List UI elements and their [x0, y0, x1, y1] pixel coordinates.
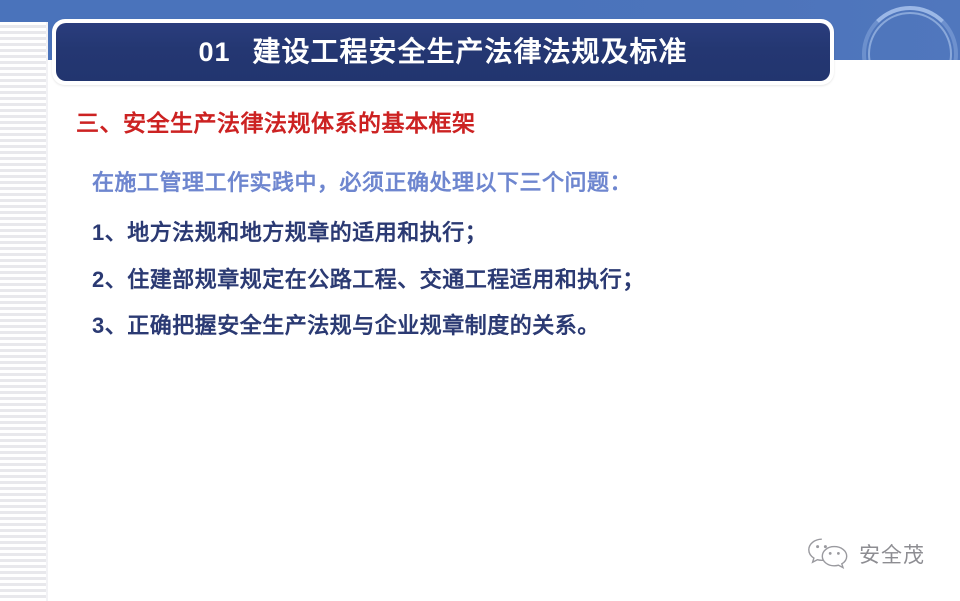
section-heading: 三、安全生产法律法规体系的基本框架 — [76, 104, 476, 138]
slide-title-bar: 01 建设工程安全生产法律法规及标准 — [56, 23, 830, 81]
list-item: 3、正确把握安全生产法规与企业规章制度的关系。 — [92, 308, 600, 340]
list-item-text: 住建部规章规定在公路工程、交通工程适用和执行； — [127, 267, 645, 292]
list-item: 2、住建部规章规定在公路工程、交通工程适用和执行； — [92, 262, 645, 294]
list-item-number: 1、 — [92, 215, 127, 247]
list-item-text: 地方法规和地方规章的适用和执行； — [127, 220, 487, 245]
lead-sentence: 在施工管理工作实践中，必须正确处理以下三个问题： — [92, 165, 632, 197]
list-item-number: 3、 — [92, 308, 127, 340]
list-item-text: 正确把握安全生产法规与企业规章制度的关系。 — [127, 313, 600, 338]
list-item: 1、地方法规和地方规章的适用和执行； — [92, 215, 487, 247]
left-stripe-edge — [46, 22, 48, 601]
watermark-label: 安全茂 — [859, 539, 925, 569]
slide-title-text: 建设工程安全生产法律法规及标准 — [253, 38, 688, 66]
slide-title-number: 01 — [198, 37, 230, 68]
wechat-icon — [806, 536, 850, 572]
left-stripe-decoration — [0, 22, 46, 601]
list-item-number: 2、 — [92, 262, 127, 294]
watermark: 安全茂 — [806, 536, 925, 572]
slide-canvas: 01 建设工程安全生产法律法规及标准 三、安全生产法律法规体系的基本框架 在施工… — [0, 0, 960, 601]
